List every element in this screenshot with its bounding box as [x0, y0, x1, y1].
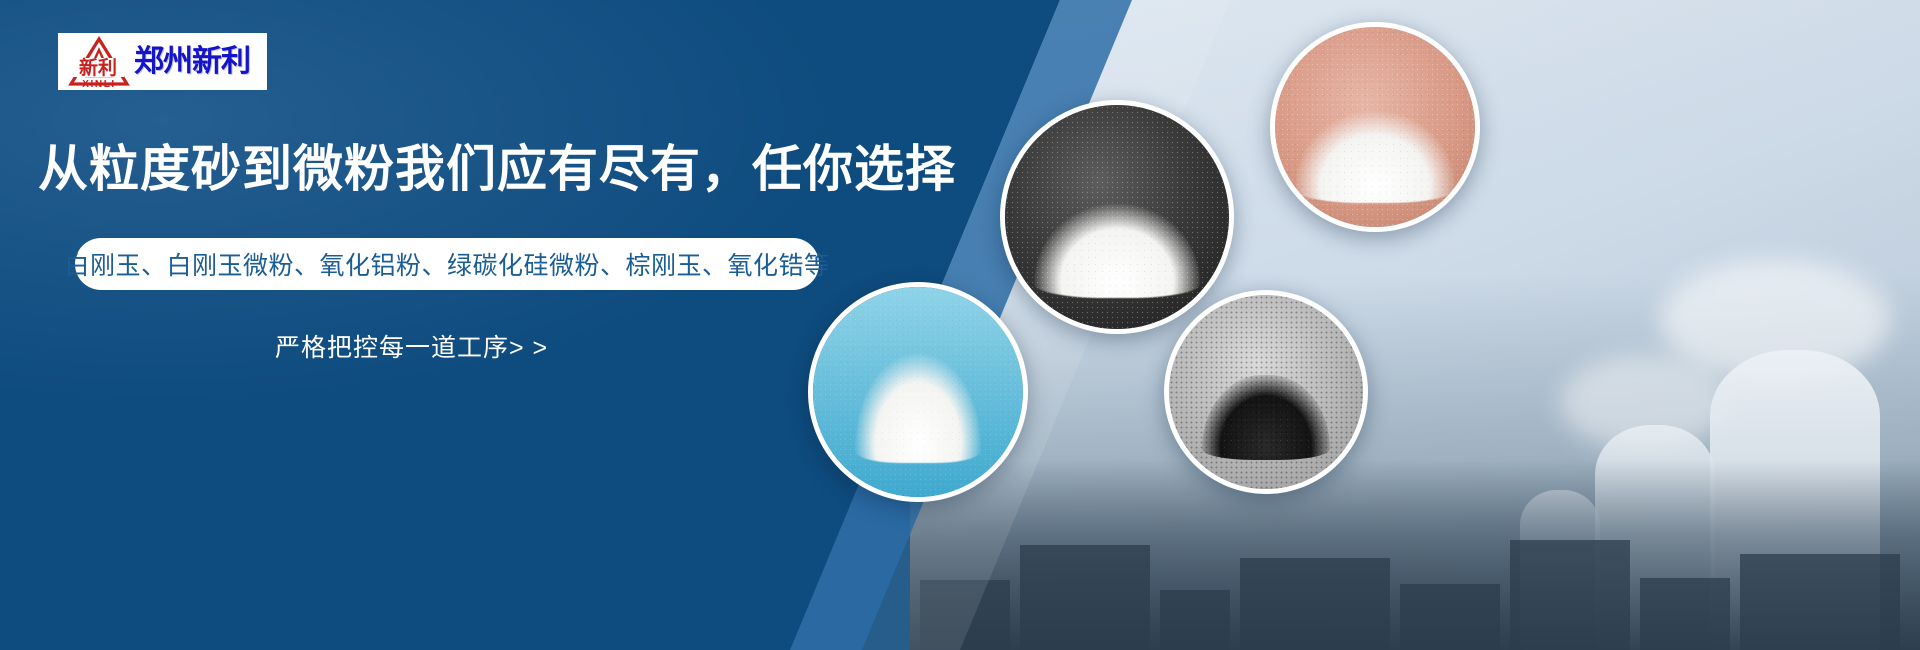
product-photo-white-alumina-micropowder: [1270, 22, 1480, 232]
skyline-shadow: [910, 460, 1920, 650]
product-photo-green-silicon-carbide: [1164, 290, 1368, 494]
product-list-pill: 白刚玉、白刚玉微粉、氧化铝粉、绿碳化硅微粉、棕刚玉、氧化锆等: [75, 238, 819, 290]
xinli-triangle-icon: 新利 XINLI: [68, 36, 130, 88]
company-logo[interactable]: 新利 XINLI 郑州新利: [58, 33, 267, 90]
cta-link[interactable]: 严格把控每一道工序> >: [275, 328, 548, 364]
page-title: 从粒度砂到微粉我们应有尽有，任你选择: [38, 142, 956, 197]
svg-text:新利: 新利: [79, 56, 117, 79]
product-photo-alumina-powder: [808, 282, 1028, 502]
svg-text:XINLI: XINLI: [82, 79, 116, 88]
product-list-text: 白刚玉、白刚玉微粉、氧化铝粉、绿碳化硅微粉、棕刚玉、氧化锆等: [65, 246, 830, 282]
promo-banner: 新利 XINLI 郑州新利 从粒度砂到微粉我们应有尽有，任你选择 白刚玉、白刚玉…: [0, 0, 1920, 650]
logo-company-name: 郑州新利: [134, 47, 250, 77]
